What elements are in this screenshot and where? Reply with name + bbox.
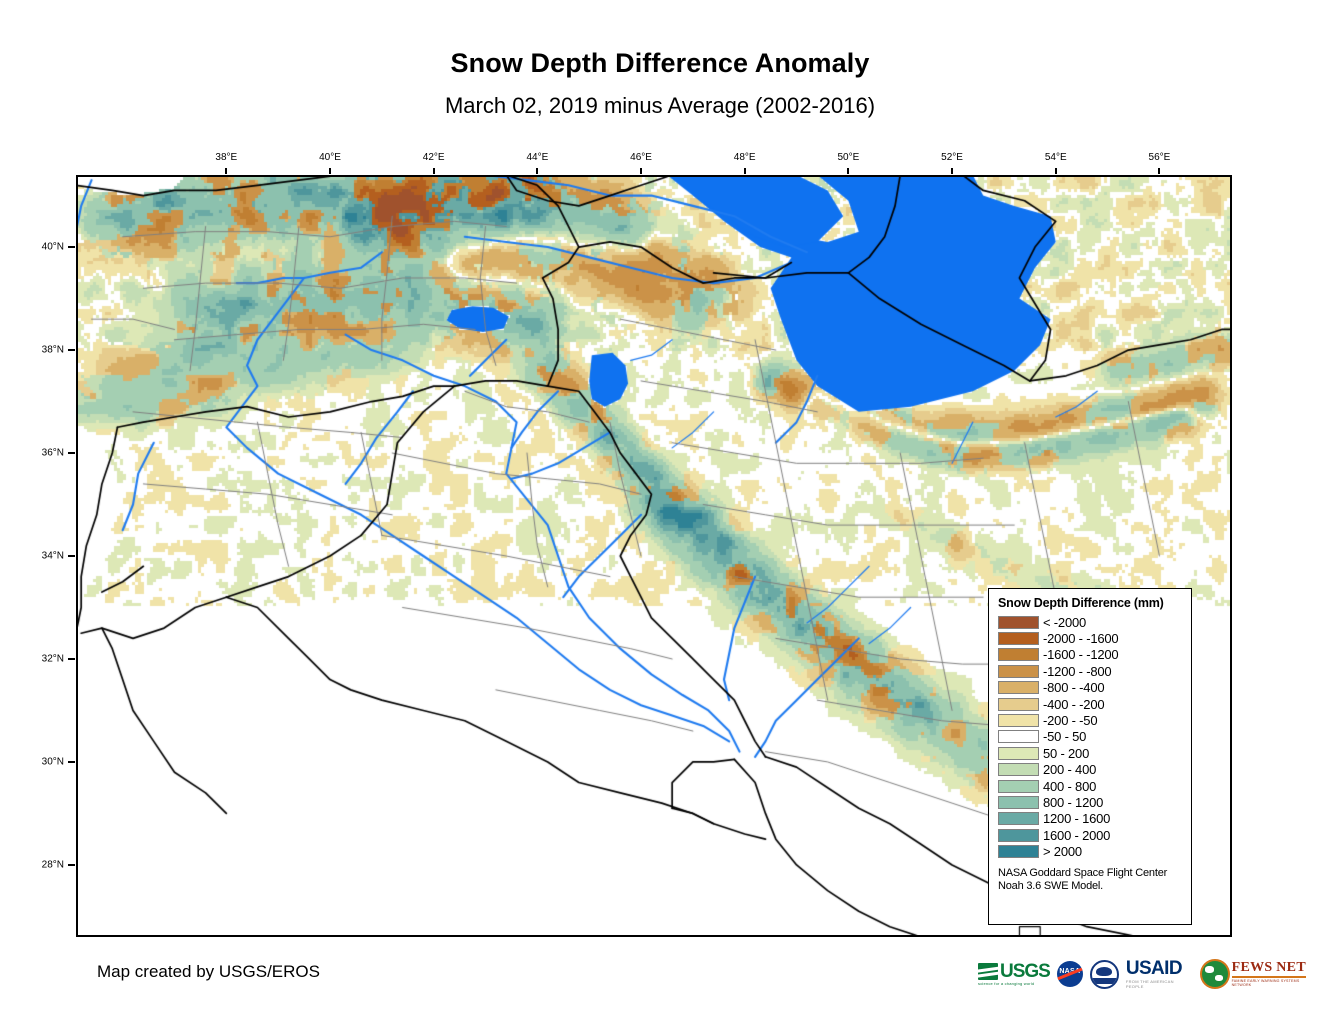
lon-tick — [329, 168, 331, 174]
legend-row: 50 - 200 — [998, 745, 1183, 761]
lon-tick — [1055, 168, 1057, 174]
lat-label: 28°N — [20, 859, 64, 870]
lon-label: 54°E — [1045, 152, 1067, 163]
legend-class-label: -2000 - -1600 — [1043, 631, 1118, 646]
noaa-wave-shape — [1092, 978, 1117, 984]
usaid-tagline: FROM THE AMERICAN PEOPLE — [1126, 979, 1193, 989]
legend-color-swatch — [998, 665, 1039, 678]
fews-globe-icon — [1200, 959, 1230, 989]
legend-class-label: -400 - -200 — [1043, 697, 1104, 712]
legend-color-swatch — [998, 763, 1039, 776]
lat-tick — [68, 349, 75, 351]
legend-color-swatch — [998, 747, 1039, 760]
legend-row: 200 - 400 — [998, 762, 1183, 778]
legend-class-label: > 2000 — [1043, 844, 1082, 859]
legend-class-label: 400 - 800 — [1043, 779, 1096, 794]
lat-tick — [68, 246, 75, 248]
lon-tick — [951, 168, 953, 174]
legend-color-swatch — [998, 780, 1039, 793]
lon-tick — [744, 168, 746, 174]
legend-color-swatch — [998, 681, 1039, 694]
logo-strip: USGS science for a changing world NASA U… — [978, 957, 1320, 991]
legend-source-line-1: NASA Goddard Space Flight Center — [998, 867, 1183, 881]
lon-tick — [640, 168, 642, 174]
legend-row: -800 - -400 — [998, 680, 1183, 696]
lat-label: 38°N — [20, 345, 64, 356]
noaa-bird-shape — [1096, 967, 1112, 976]
legend-color-swatch — [998, 698, 1039, 711]
usgs-waves-icon — [978, 963, 998, 980]
legend-class-label: 1600 - 2000 — [1043, 828, 1110, 843]
fews-divider — [1232, 976, 1306, 978]
legend-class-label: 50 - 200 — [1043, 746, 1089, 761]
lat-label: 30°N — [20, 756, 64, 767]
legend-row: 1200 - 1600 — [998, 811, 1183, 827]
lon-label: 40°E — [319, 152, 341, 163]
legend-color-swatch — [998, 812, 1039, 825]
legend-class-label: 800 - 1200 — [1043, 795, 1103, 810]
legend-class-label: -1200 - -800 — [1043, 664, 1111, 679]
lon-tick — [225, 168, 227, 174]
fews-net-logo: FEWS NET FAMINE EARLY WARNING SYSTEMS NE… — [1200, 957, 1320, 991]
legend-row: -400 - -200 — [998, 696, 1183, 712]
legend-color-swatch — [998, 616, 1039, 629]
lon-label: 44°E — [526, 152, 548, 163]
legend-color-swatch — [998, 714, 1039, 727]
lon-tick — [536, 168, 538, 174]
fews-wordmark: FEWS NET — [1232, 961, 1306, 975]
page-title: Snow Depth Difference Anomaly — [0, 48, 1320, 79]
page-subtitle: March 02, 2019 minus Average (2002-2016) — [0, 93, 1320, 119]
legend-title: Snow Depth Difference (mm) — [998, 596, 1183, 610]
lat-label: 40°N — [20, 242, 64, 253]
lon-tick — [433, 168, 435, 174]
noaa-logo — [1090, 957, 1119, 991]
legend-class-label: 1200 - 1600 — [1043, 811, 1110, 826]
legend-class-label: 200 - 400 — [1043, 762, 1096, 777]
lon-label: 52°E — [941, 152, 963, 163]
fews-tagline: FAMINE EARLY WARNING SYSTEMS NETWORK — [1232, 979, 1320, 987]
usaid-wordmark: USAID — [1126, 960, 1182, 978]
legend-row: 800 - 1200 — [998, 794, 1183, 810]
usgs-logo: USGS science for a changing world — [978, 957, 1050, 991]
nasa-meatball-icon: NASA — [1057, 961, 1083, 987]
legend-panel: Snow Depth Difference (mm) < -2000-2000 … — [988, 588, 1192, 925]
legend-row: > 2000 — [998, 843, 1183, 859]
title-block: Snow Depth Difference Anomaly March 02, … — [0, 0, 1320, 119]
lat-tick — [68, 555, 75, 557]
legend-class-label: -1600 - -1200 — [1043, 647, 1118, 662]
legend-class-label: -800 - -400 — [1043, 680, 1104, 695]
lat-label: 34°N — [20, 551, 64, 562]
legend-row: < -2000 — [998, 614, 1183, 630]
lat-label: 32°N — [20, 653, 64, 664]
legend-row: 400 - 800 — [998, 778, 1183, 794]
legend-row: -1200 - -800 — [998, 663, 1183, 679]
lon-tick — [1158, 168, 1160, 174]
usaid-logo: USAID FROM THE AMERICAN PEOPLE — [1126, 957, 1193, 991]
legend-class-label: -50 - 50 — [1043, 729, 1086, 744]
lon-label: 42°E — [423, 152, 445, 163]
legend-row: -2000 - -1600 — [998, 630, 1183, 646]
lon-tick — [847, 168, 849, 174]
legend-class-label: -200 - -50 — [1043, 713, 1097, 728]
legend-row: -1600 - -1200 — [998, 647, 1183, 663]
lon-label: 48°E — [734, 152, 756, 163]
lat-tick — [68, 761, 75, 763]
lat-label: 36°N — [20, 448, 64, 459]
legend-row: 1600 - 2000 — [998, 827, 1183, 843]
legend-color-swatch — [998, 730, 1039, 743]
legend-source-line-2: Noah 3.6 SWE Model. — [998, 880, 1183, 894]
usgs-tagline: science for a changing world — [978, 981, 1034, 986]
legend-row: -50 - 50 — [998, 729, 1183, 745]
noaa-seabird-icon — [1090, 960, 1119, 989]
legend-color-swatch — [998, 845, 1039, 858]
legend-color-swatch — [998, 829, 1039, 842]
legend-color-swatch — [998, 648, 1039, 661]
legend-color-swatch — [998, 632, 1039, 645]
legend-class-list: < -2000-2000 - -1600-1600 - -1200-1200 -… — [998, 614, 1183, 860]
legend-color-swatch — [998, 796, 1039, 809]
legend-source-note: NASA Goddard Space Flight Center Noah 3.… — [998, 867, 1183, 894]
lon-label: 38°E — [215, 152, 237, 163]
lat-tick — [68, 864, 75, 866]
lon-label: 50°E — [837, 152, 859, 163]
usgs-wordmark: USGS — [1000, 963, 1050, 980]
lat-tick — [68, 658, 75, 660]
lon-label: 56°E — [1149, 152, 1171, 163]
legend-row: -200 - -50 — [998, 712, 1183, 728]
lat-tick — [68, 452, 75, 454]
legend-class-label: < -2000 — [1043, 615, 1086, 630]
lon-label: 46°E — [630, 152, 652, 163]
map-credit: Map created by USGS/EROS — [97, 962, 320, 982]
nasa-logo: NASA — [1057, 957, 1083, 991]
